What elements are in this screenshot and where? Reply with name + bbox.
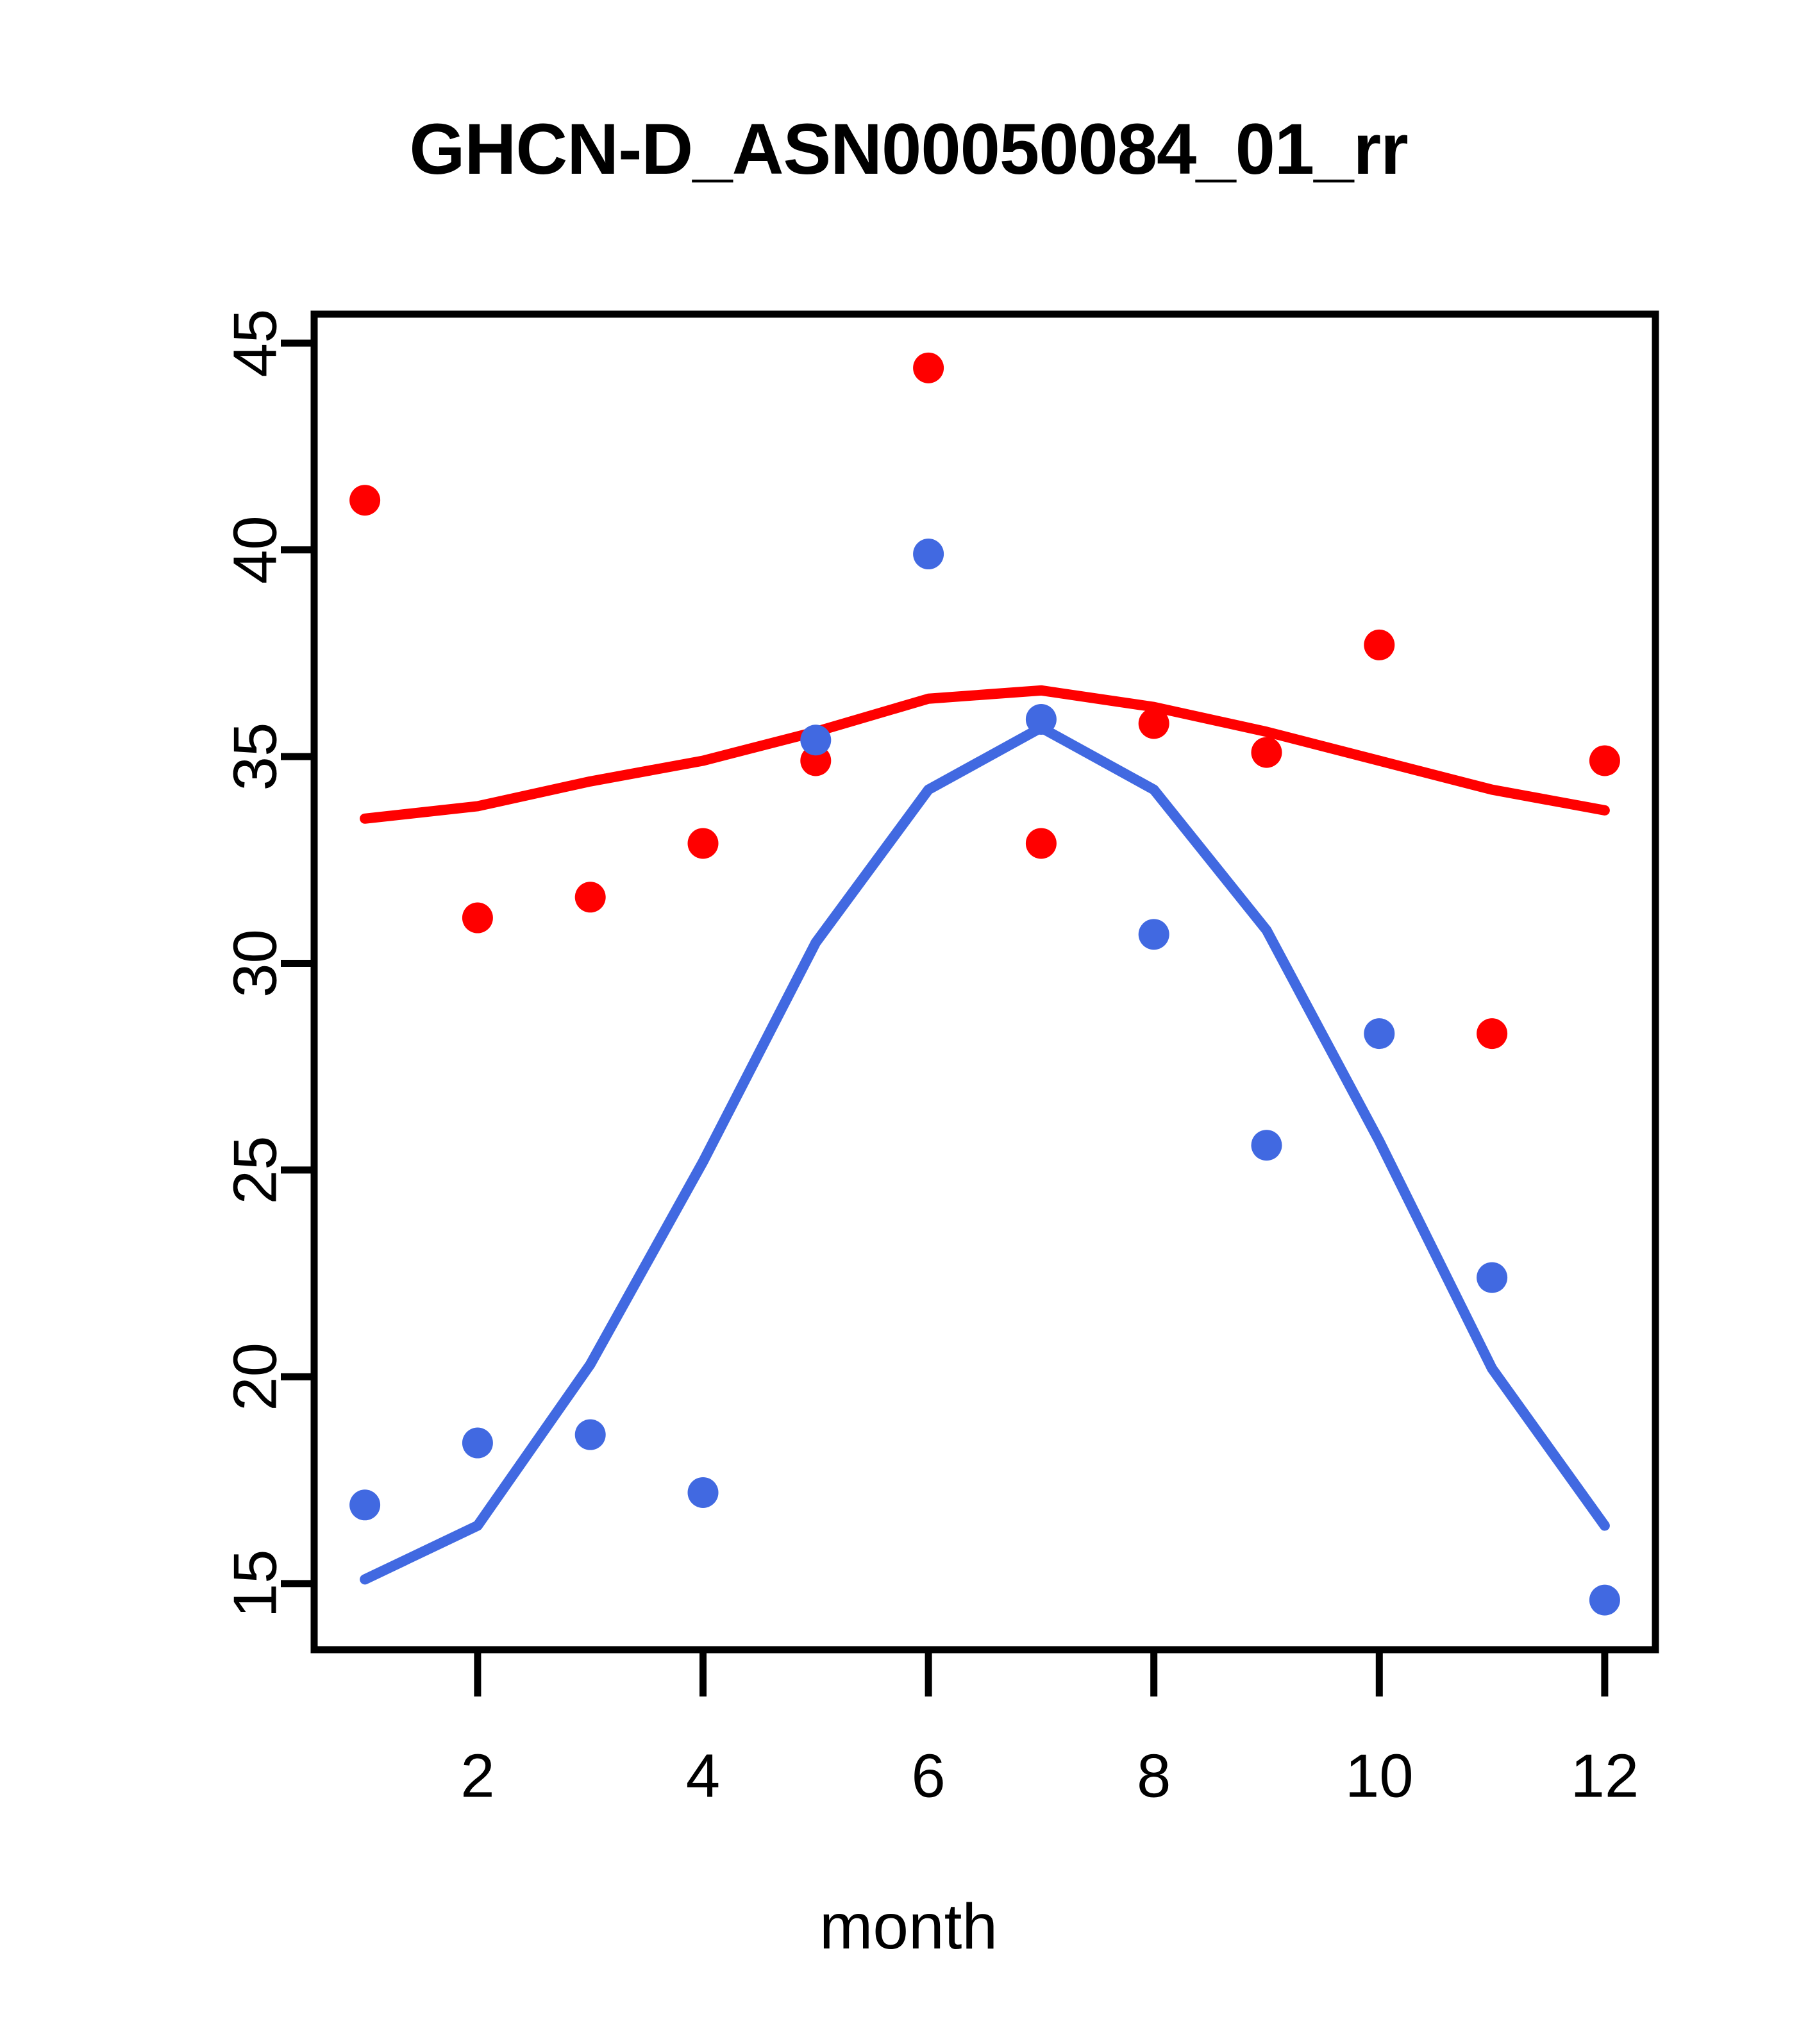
plot-border xyxy=(314,314,1655,1650)
x-axis-tick-label: 10 xyxy=(1345,1742,1414,1811)
data-point-blue-points xyxy=(1026,704,1057,735)
x-axis-tick-label: 12 xyxy=(1571,1742,1639,1811)
plot-frame xyxy=(314,314,1655,1650)
y-axis-tick-label: 30 xyxy=(221,929,290,998)
data-point-blue-points xyxy=(1251,1130,1282,1160)
y-axis: 15202530354045 xyxy=(221,309,315,1618)
data-point-red-points xyxy=(1139,708,1169,739)
data-point-blue-points xyxy=(1139,919,1169,950)
x-axis: 24681012 xyxy=(460,1650,1639,1811)
y-axis-tick-label: 20 xyxy=(221,1343,290,1411)
x-axis-tick-label: 2 xyxy=(460,1742,494,1811)
data-point-blue-points xyxy=(1589,1585,1620,1616)
x-axis-tick-label: 6 xyxy=(911,1742,945,1811)
data-point-blue-points xyxy=(913,539,944,569)
data-point-blue-points xyxy=(1477,1262,1507,1293)
data-point-blue-points xyxy=(575,1420,606,1450)
y-axis-tick-label: 40 xyxy=(221,515,290,584)
data-point-red-points xyxy=(1251,737,1282,768)
data-point-blue-points xyxy=(1364,1018,1394,1049)
y-axis-tick-label: 45 xyxy=(221,309,290,378)
data-point-blue-points xyxy=(688,1477,719,1508)
data-point-red-points xyxy=(1589,745,1620,776)
data-series-group xyxy=(349,353,1620,1616)
data-point-red-points xyxy=(462,903,493,934)
data-point-red-points xyxy=(575,882,606,912)
series-line-blue-line xyxy=(365,728,1605,1579)
plot-canvas: 15202530354045 24681012 xyxy=(0,0,1817,2044)
x-axis-tick-label: 4 xyxy=(686,1742,720,1811)
data-point-red-points xyxy=(349,485,380,515)
data-point-blue-points xyxy=(462,1428,493,1459)
data-point-blue-points xyxy=(349,1489,380,1520)
x-axis-tick-label: 8 xyxy=(1137,1742,1171,1811)
x-axis-title: month xyxy=(0,1890,1817,1964)
data-point-red-points xyxy=(913,353,944,383)
data-point-red-points xyxy=(1364,630,1394,660)
data-point-red-points xyxy=(1026,828,1057,859)
data-point-red-points xyxy=(688,828,719,859)
y-axis-tick-label: 35 xyxy=(221,723,290,791)
data-point-blue-points xyxy=(800,725,831,755)
y-axis-tick-label: 15 xyxy=(221,1549,290,1618)
data-point-red-points xyxy=(1477,1018,1507,1049)
y-axis-tick-label: 25 xyxy=(221,1136,290,1205)
chart-page: GHCN-D_ASN00050084_01_rr 15202530354045 … xyxy=(0,0,1817,2044)
